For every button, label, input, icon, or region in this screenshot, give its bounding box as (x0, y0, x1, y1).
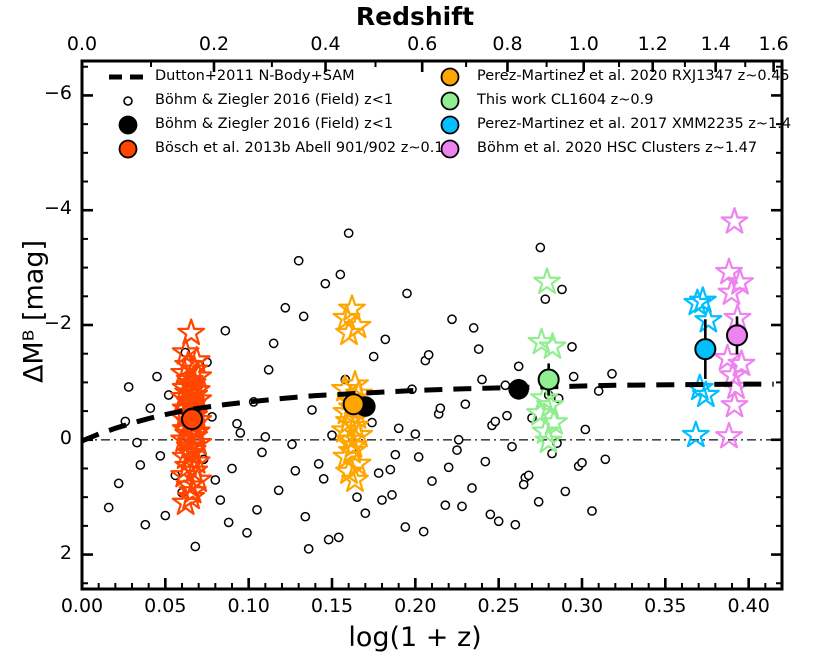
field-point (295, 257, 303, 265)
field-point (161, 511, 169, 519)
field-point (301, 513, 309, 521)
field-point (225, 518, 233, 526)
cluster-star-marker (722, 208, 748, 232)
legend-marker (105, 90, 151, 112)
x-tick-label: 0.25 (469, 595, 529, 617)
field-point (508, 443, 516, 451)
field-point (270, 339, 278, 347)
field-point (558, 285, 566, 293)
field-point (328, 431, 336, 439)
field-point (608, 370, 616, 378)
field-point (520, 480, 528, 488)
field-point (535, 498, 543, 506)
cluster-star-marker (178, 320, 204, 344)
field-point (308, 406, 316, 414)
field-point (541, 295, 549, 303)
field-point (336, 270, 344, 278)
x-tick-label: 0.20 (385, 595, 445, 617)
legend-label: Böhm & Ziegler 2016 (Field) z<1 (155, 92, 393, 108)
field-point (588, 507, 596, 515)
top-x-tick-label: 1.2 (623, 33, 683, 55)
x-tick-label: 0.00 (52, 595, 112, 617)
legend-label: Bösch et al. 2013b Abell 901/902 z~0.16 (155, 140, 453, 156)
field-point (275, 486, 283, 494)
field-point (428, 477, 436, 485)
legend-label: Böhm et al. 2020 HSC Clusters z~1.47 (477, 140, 757, 156)
field-point (236, 429, 244, 437)
x-tick-label: 0.35 (635, 595, 695, 617)
field-point (601, 455, 609, 463)
x-tick-label: 0.40 (719, 595, 779, 617)
field-point (320, 475, 328, 483)
field-point (448, 315, 456, 323)
top-x-tick-label: 1.0 (554, 33, 614, 55)
field-point (370, 352, 378, 360)
cluster-mean-marker (182, 409, 202, 429)
x-tick-label: 0.05 (135, 595, 195, 617)
cluster-star-marker (339, 295, 365, 319)
field-point (216, 496, 224, 504)
y-tick-label: 0 (20, 427, 72, 449)
figure-canvas: Redshift log(1 + z) ΔMᴮ [mag] 0.000.050.… (0, 0, 830, 664)
field-point (228, 464, 236, 472)
y-tick-label: −4 (20, 197, 72, 219)
field-point (191, 542, 199, 550)
field-point (375, 469, 383, 477)
field-point (401, 523, 409, 531)
field-point (265, 366, 273, 374)
field-point (288, 440, 296, 448)
field-point (335, 533, 343, 541)
field-point (353, 493, 361, 501)
field-point (378, 496, 386, 504)
field-point (411, 430, 419, 438)
legend-marker (427, 114, 473, 136)
field-point (133, 439, 141, 447)
y-tick-label: −6 (20, 82, 72, 104)
field-point (321, 280, 329, 288)
top-x-tick-label: 0.4 (296, 33, 356, 55)
y-tick-label: −2 (20, 312, 72, 334)
x-tick-label: 0.30 (552, 595, 612, 617)
field-point (386, 466, 394, 474)
field-point (281, 304, 289, 312)
field-point (368, 418, 376, 426)
field-point (153, 373, 161, 381)
field-point (481, 457, 489, 465)
field-point (315, 460, 323, 468)
field-point (136, 461, 144, 469)
x-tick-label: 0.10 (219, 595, 279, 617)
data-layer (82, 208, 782, 553)
cluster-star-marker (683, 422, 709, 446)
field-point (253, 506, 261, 514)
legend-marker (105, 114, 151, 136)
field-point (415, 453, 423, 461)
top-x-tick-label: 0.6 (392, 33, 452, 55)
field-point (243, 529, 251, 537)
field-point (486, 510, 494, 518)
field-point (156, 452, 164, 460)
field-point (425, 351, 433, 359)
legend-marker (427, 138, 473, 160)
field-point (515, 362, 523, 370)
top-x-tick-label: 1.4 (686, 33, 746, 55)
x-axis-title: log(1 + z) (0, 622, 830, 653)
field-point (475, 345, 483, 353)
field-point (291, 467, 299, 475)
field-point (403, 289, 411, 297)
field-point (511, 521, 519, 529)
field-point (146, 404, 154, 412)
field-point (391, 451, 399, 459)
y-tick-label: 2 (20, 542, 72, 564)
field-point (468, 484, 476, 492)
field-point (470, 324, 478, 332)
field-point (478, 375, 486, 383)
field-point (141, 521, 149, 529)
field-point (221, 327, 229, 335)
field-point (105, 503, 113, 511)
field-point (570, 373, 578, 381)
field-point (536, 243, 544, 251)
legend-label: Böhm & Ziegler 2016 (Field) z<1 (155, 116, 393, 132)
legend-marker (427, 90, 473, 112)
field-point (381, 335, 389, 343)
field-point (458, 502, 466, 510)
x-tick-label: 0.15 (302, 595, 362, 617)
field-point (388, 491, 396, 499)
field-point (495, 517, 503, 525)
field-point (441, 501, 449, 509)
legend-marker (105, 66, 151, 88)
legend-label: Dutton+2011 N-Body+SAM (155, 68, 355, 84)
field-point (211, 476, 219, 484)
cluster-mean-marker (344, 394, 364, 414)
field-point (453, 446, 461, 454)
field-point (525, 471, 533, 479)
field-point (455, 436, 463, 444)
field-point (561, 487, 569, 495)
legend-label: Perez-Martinez et al. 2020 RXJ1347 z~0.4… (477, 68, 790, 84)
field-point (300, 312, 308, 320)
field-point (115, 479, 123, 487)
field-point (568, 343, 576, 351)
top-x-tick-label: 0.0 (52, 33, 112, 55)
field-point (503, 412, 511, 420)
field-point (345, 229, 353, 237)
top-x-tick-label: 0.2 (184, 33, 244, 55)
field-point (258, 448, 266, 456)
cluster-mean-marker (695, 339, 715, 359)
field-point (305, 545, 313, 553)
legend-marker (105, 138, 151, 160)
field-point (325, 536, 333, 544)
field-point (233, 420, 241, 428)
legend-label: This work CL1604 z~0.9 (477, 92, 653, 108)
field-point (436, 404, 444, 412)
field-point (361, 509, 369, 517)
field-mean-marker (509, 380, 528, 399)
field-point (125, 383, 133, 391)
field-point (581, 425, 589, 433)
field-point (261, 433, 269, 441)
field-point (491, 417, 499, 425)
field-point (420, 528, 428, 536)
legend-label: Perez-Martinez et al. 2017 XMM2235 z~1.4 (477, 116, 791, 132)
cluster-mean-marker (539, 370, 559, 390)
top-x-tick-label: 0.8 (477, 33, 537, 55)
field-point (501, 381, 509, 389)
field-point (461, 400, 469, 408)
cluster-mean-marker (727, 325, 747, 345)
cluster-star-marker (716, 423, 742, 447)
legend-marker (427, 66, 473, 88)
cluster-star-marker (534, 268, 560, 292)
field-point (445, 463, 453, 471)
field-point (578, 459, 586, 467)
top-x-tick-label: 1.6 (744, 33, 804, 55)
field-point (395, 424, 403, 432)
